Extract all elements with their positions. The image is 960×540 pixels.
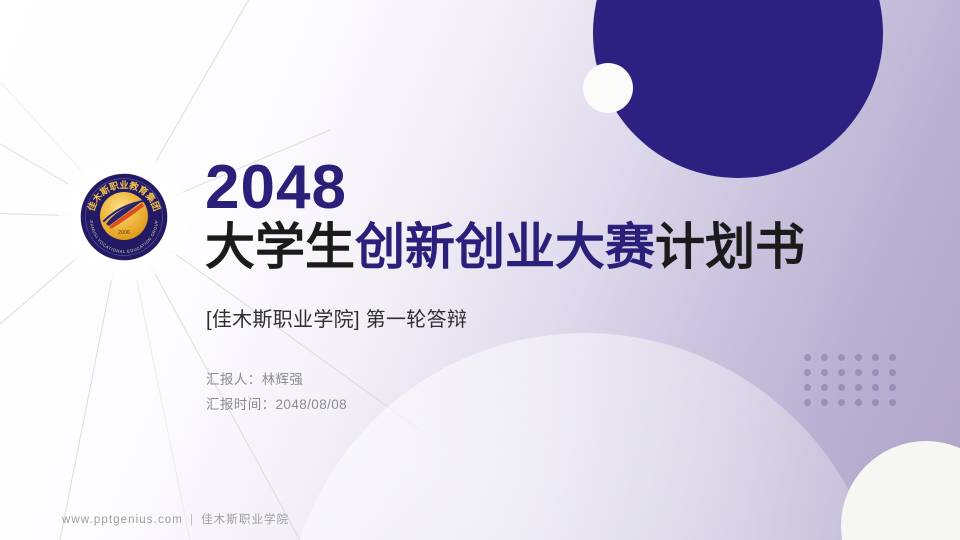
footer: www.pptgenius.com|佳木斯职业学院 (62, 511, 289, 527)
footer-institution: 佳木斯职业学院 (201, 514, 289, 526)
title-segment-2: 创新创业大赛 (355, 219, 655, 275)
presentation-slide: 佳木斯职业教育集团 JIAMUSI VOCATIONAL EDUCATION G… (0, 0, 960, 540)
svg-text:2006: 2006 (118, 230, 130, 236)
headline-block: 2048 大学生创新创业大赛计划书 (205, 158, 905, 274)
subtitle: [佳木斯职业学院] 第一轮答辩 (206, 303, 467, 332)
title-segment-3: 计划书 (655, 219, 805, 275)
footer-site: www.pptgenius.com (62, 514, 183, 526)
main-title: 大学生创新创业大赛计划书 (205, 221, 905, 274)
dot-grid-decoration (804, 354, 906, 414)
institution-logo: 佳木斯职业教育集团 JIAMUSI VOCATIONAL EDUCATION G… (73, 166, 175, 268)
presentation-date-line: 汇报时间：2048/08/08 (206, 393, 347, 418)
presenter-name-line: 汇报人：林辉强 (206, 368, 347, 393)
white-accent-dot-circle (583, 63, 633, 113)
presenter-meta: 汇报人：林辉强 汇报时间：2048/08/08 (206, 368, 347, 418)
year-heading: 2048 (205, 158, 905, 219)
title-segment-1: 大学生 (205, 219, 355, 275)
emblem-icon: 佳木斯职业教育集团 JIAMUSI VOCATIONAL EDUCATION G… (73, 166, 175, 268)
footer-separator: | (190, 514, 194, 526)
